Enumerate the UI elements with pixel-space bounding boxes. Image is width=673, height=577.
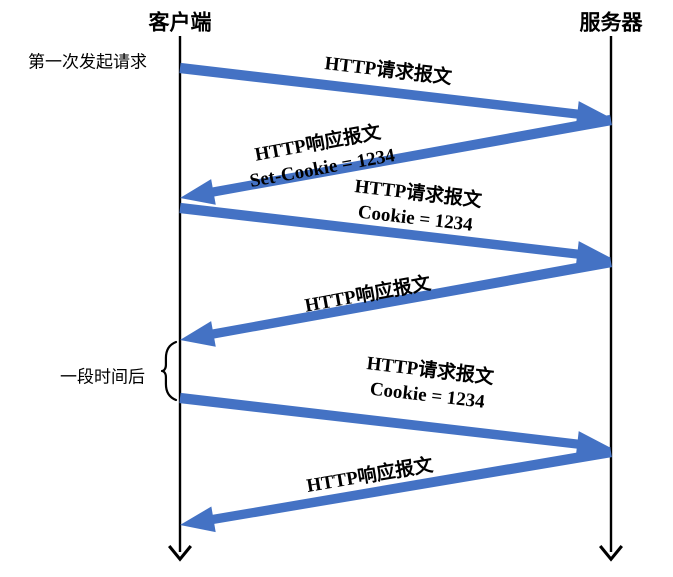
elapsed-time-note: 一段时间后 (60, 367, 145, 386)
message-arrow-msg-6 (180, 447, 612, 532)
elapsed-time-brace (162, 342, 176, 400)
message-arrow-msg-4 (180, 257, 612, 347)
sequence-diagram-canvas: HTTP请求报文HTTP响应报文Set-Cookie = 1234HTTP请求报… (0, 0, 673, 577)
elapsed-time-brace-group (162, 342, 176, 400)
actor-label-server: 服务器 (580, 11, 644, 35)
sequence-diagram: HTTP请求报文HTTP响应报文Set-Cookie = 1234HTTP请求报… (0, 0, 673, 577)
message-label-msg-5: HTTP请求报文Cookie = 1234 (363, 351, 496, 413)
first-request-note: 第一次发起请求 (28, 52, 147, 71)
side-notes-group: 第一次发起请求一段时间后 (28, 52, 147, 386)
actor-labels-group: 客户端服务器 (149, 11, 644, 35)
actor-label-client: 客户端 (149, 11, 212, 35)
